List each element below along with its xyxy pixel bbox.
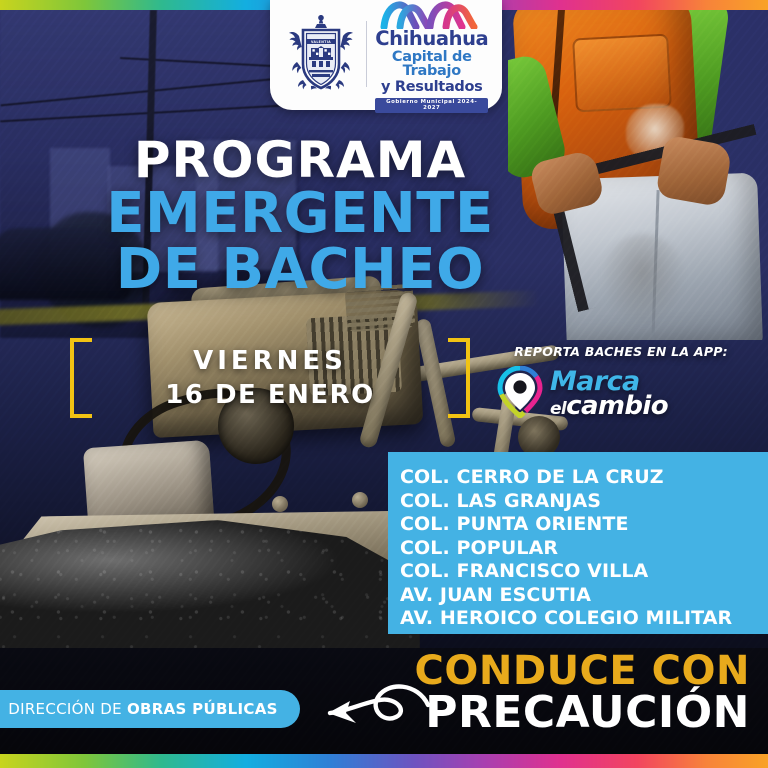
brand-tagline-line1: Capital de Trabajo: [375, 50, 488, 79]
map-pin-icon: [496, 366, 544, 423]
app-report-label: REPORTA BACHES EN LA APP:: [496, 344, 746, 359]
list-item: COL. FRANCISCO VILLA: [400, 560, 768, 584]
app-name-el: el: [550, 399, 566, 419]
chihuahua-wave-mark-icon: [375, 0, 488, 29]
chihuahua-coat-of-arms-icon: VALENTIA: [284, 12, 358, 96]
svg-text:VALENTIA: VALENTIA: [311, 40, 331, 44]
curved-arrow-icon: [300, 671, 430, 750]
app-name-cambio: cambio: [566, 391, 668, 421]
rainbow-strip-bottom: [0, 754, 768, 768]
app-name-el-cambio: elcambio: [550, 391, 668, 421]
brand-tagline-line2: y Resultados: [375, 80, 488, 95]
app-report-callout: REPORTA BACHES EN LA APP: Marca elcambio: [496, 344, 746, 423]
event-date-block: VIERNES 16 DE ENERO: [70, 338, 470, 418]
slogan-line-1: CONDUCE CON: [415, 652, 750, 690]
list-item: COL. PUNTA ORIENTE: [400, 513, 768, 537]
list-item: COL. POPULAR: [400, 537, 768, 561]
marca-el-cambio-logo: Marca elcambio: [496, 366, 746, 423]
poster-canvas: VALENTIA: [0, 0, 768, 768]
page-title: PROGRAMA EMERGENTE DE BACHEO: [0, 136, 600, 298]
government-logo-badge: VALENTIA: [270, 0, 502, 110]
headline-line-2: EMERGENTE: [0, 187, 600, 242]
brand-city-name: Chihuahua: [375, 29, 488, 49]
brand-government-period: Gobierno Municipal 2024-2027: [375, 98, 488, 113]
safety-slogan: CONDUCE CON PRECAUCIÓN: [415, 652, 750, 734]
date-weekday: VIERNES: [193, 346, 347, 376]
department-name: OBRAS PÚBLICAS: [127, 700, 278, 718]
list-item: AV. HEROICO COLEGIO MILITAR: [400, 607, 768, 631]
street-list: COL. CERRO DE LA CRUZ COL. LAS GRANJAS C…: [400, 466, 768, 631]
headline-line-3: DE BACHEO: [0, 243, 600, 298]
list-item: COL. LAS GRANJAS: [400, 490, 768, 514]
date-day-month: 16 DE ENERO: [165, 380, 375, 410]
department-badge: DIRECCIÓN DE OBRAS PÚBLICAS: [0, 690, 300, 728]
list-item: AV. JUAN ESCUTIA: [400, 584, 768, 608]
street-list-box: COL. CERRO DE LA CRUZ COL. LAS GRANJAS C…: [388, 452, 768, 634]
logo-divider: [366, 21, 368, 87]
department-prefix: DIRECCIÓN DE: [8, 700, 127, 718]
chihuahua-brand-lockup: Chihuahua Capital de Trabajo y Resultado…: [375, 0, 488, 113]
list-item: COL. CERRO DE LA CRUZ: [400, 466, 768, 490]
slogan-line-2: PRECAUCIÓN: [415, 692, 750, 734]
headline-line-1: PROGRAMA: [0, 136, 600, 185]
